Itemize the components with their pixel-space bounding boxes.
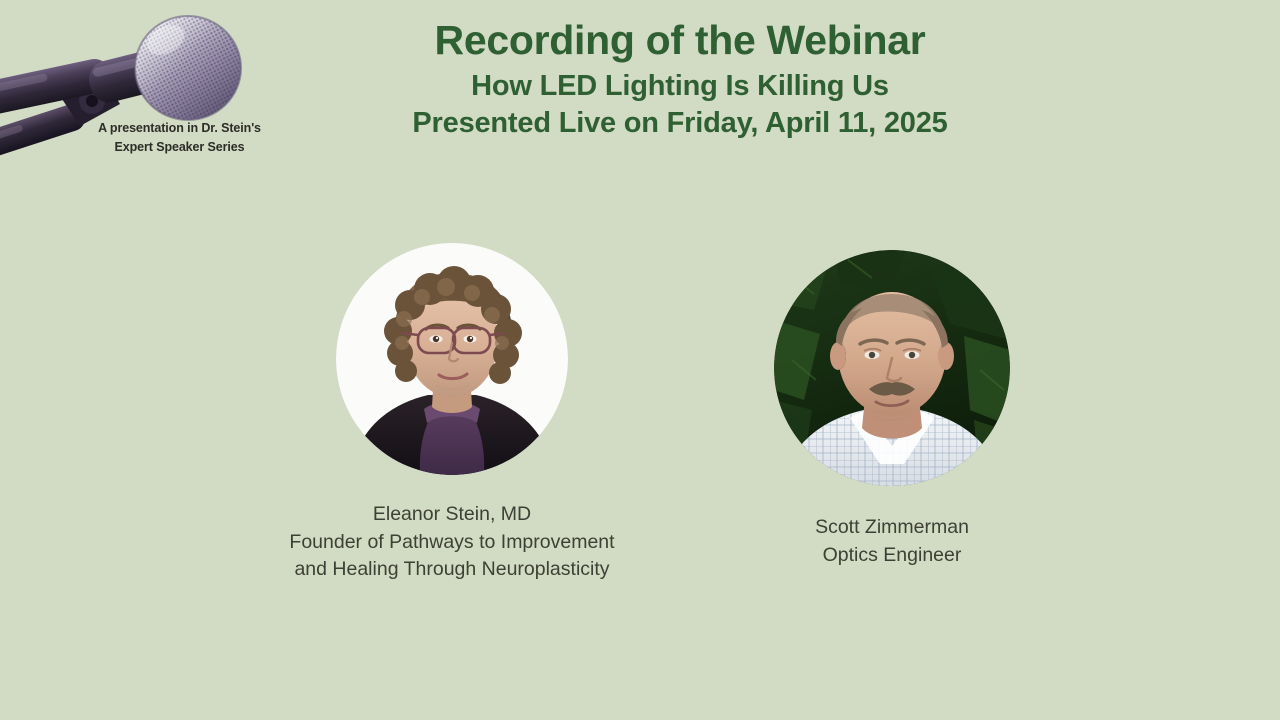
subtitle-date: Presented Live on Friday, April 11, 2025 bbox=[300, 106, 1060, 141]
speaker-role-line-2: and Healing Through Neuroplasticity bbox=[212, 556, 692, 584]
page-title: Recording of the Webinar bbox=[300, 18, 1060, 64]
speaker-name: Scott Zimmerman bbox=[652, 514, 1132, 542]
subtitle-topic: How LED Lighting Is Killing Us bbox=[300, 69, 1060, 104]
speaker-card-scott-zimmerman: Scott Zimmerman Optics Engineer bbox=[652, 250, 1132, 569]
avatar-eleanor-stein bbox=[336, 243, 568, 475]
speaker-caption-eleanor-stein: Eleanor Stein, MD Founder of Pathways to… bbox=[212, 501, 692, 584]
avatar-scott-zimmerman bbox=[774, 250, 1010, 486]
speaker-card-eleanor-stein: Eleanor Stein, MD Founder of Pathways to… bbox=[212, 243, 692, 584]
slide-header: Recording of the Webinar How LED Lightin… bbox=[300, 18, 1060, 142]
logo-caption-line-1: A presentation in Dr. Stein's bbox=[72, 119, 287, 138]
speaker-role-line-1: Founder of Pathways to Improvement bbox=[212, 529, 692, 557]
logo-caption-line-2: Expert Speaker Series bbox=[72, 138, 287, 157]
webinar-slide: A presentation in Dr. Stein's Expert Spe… bbox=[0, 0, 1280, 720]
speaker-name: Eleanor Stein, MD bbox=[212, 501, 692, 529]
speaker-caption-scott-zimmerman: Scott Zimmerman Optics Engineer bbox=[652, 514, 1132, 569]
logo-caption: A presentation in Dr. Stein's Expert Spe… bbox=[72, 119, 287, 158]
speaker-role-line-1: Optics Engineer bbox=[652, 542, 1132, 570]
expert-speaker-series-logo: A presentation in Dr. Stein's Expert Spe… bbox=[0, 0, 300, 165]
